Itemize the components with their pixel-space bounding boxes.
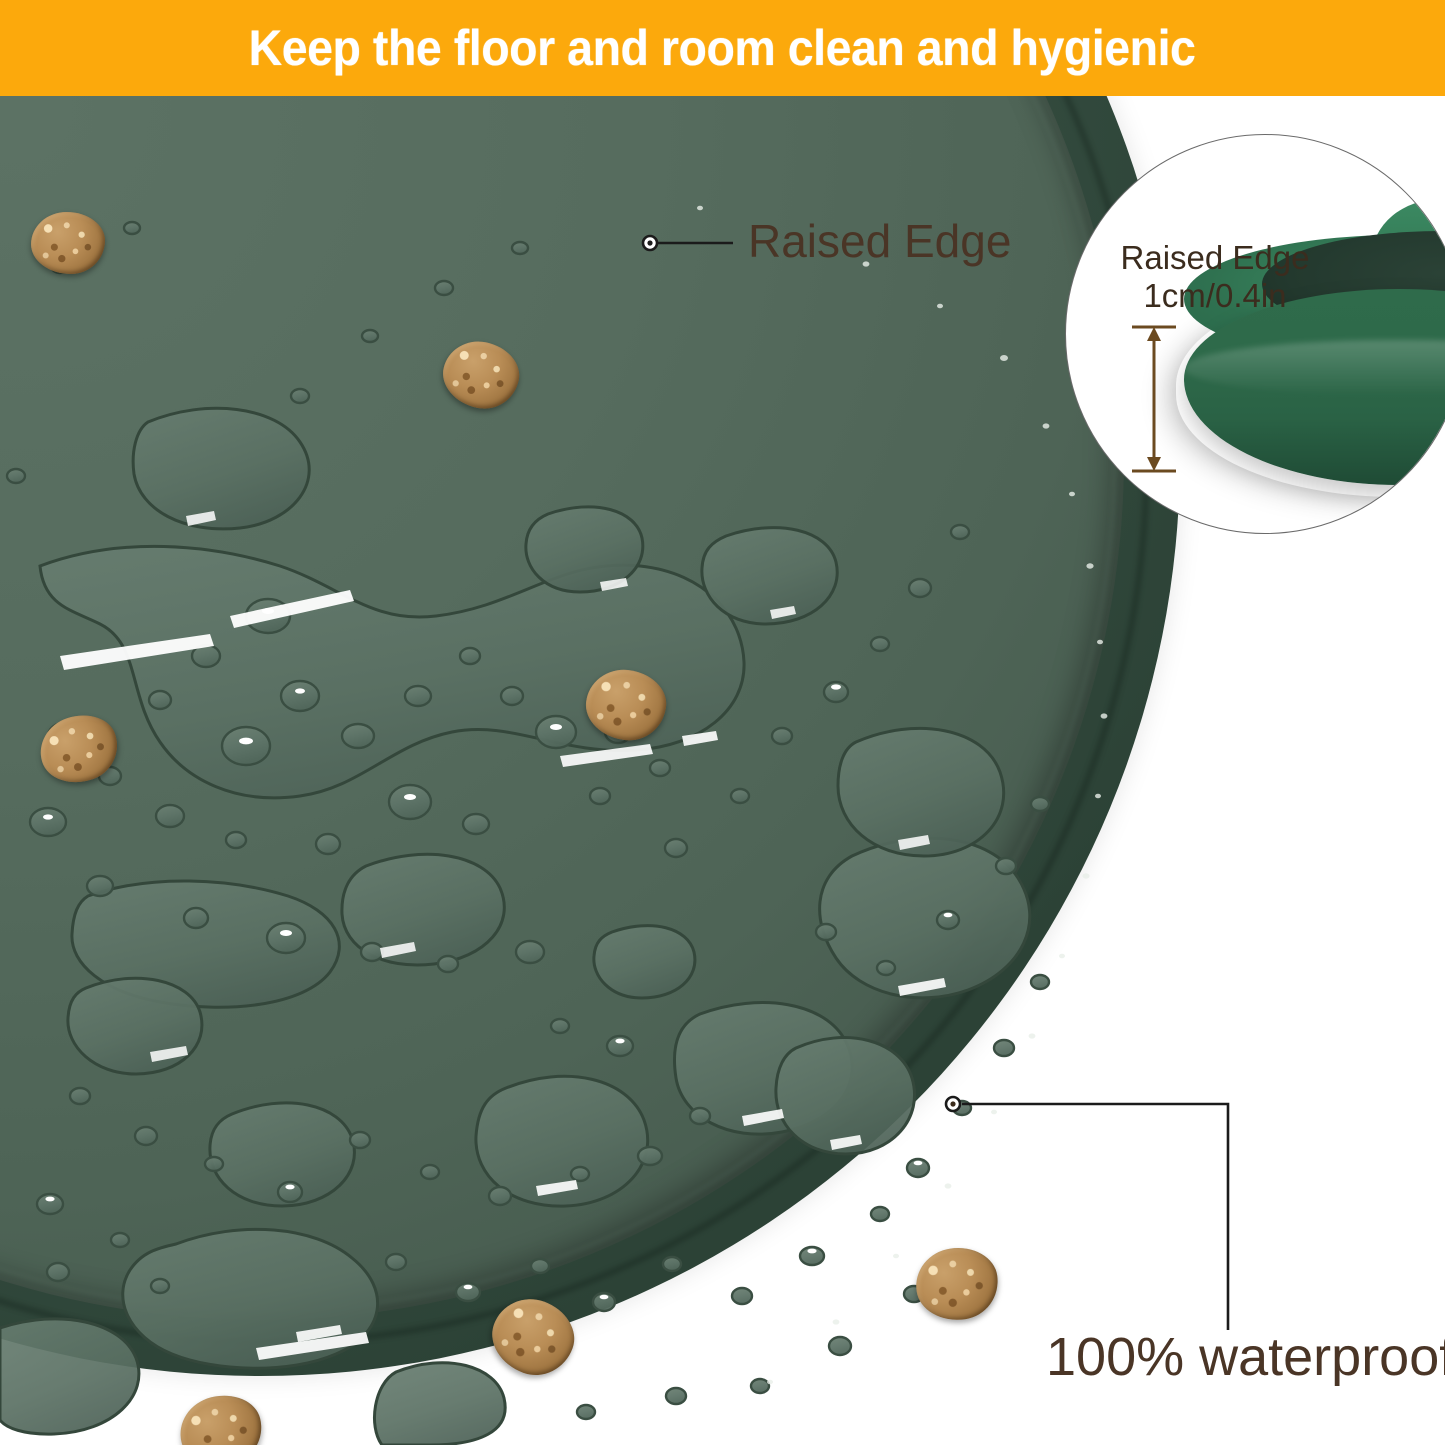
inset-label-line-2: 1cm/0.4in <box>1080 277 1350 315</box>
pet-bowl <box>0 96 1180 1376</box>
product-marketing-image: Raised Edge 100% waterproof Raised Edge … <box>0 0 1445 1445</box>
inset-dimension-label: Raised Edge 1cm/0.4in <box>1080 239 1350 314</box>
banner-title: Keep the floor and room clean and hygien… <box>249 19 1196 77</box>
inset-label-line-1: Raised Edge <box>1080 239 1350 277</box>
kibble-piece <box>31 212 105 274</box>
waterproof-callout-label: 100% waterproof <box>1046 1326 1445 1388</box>
header-banner: Keep the floor and room clean and hygien… <box>0 0 1445 96</box>
raised-edge-callout-label: Raised Edge <box>748 214 1011 268</box>
raised-edge-detail-inset: Raised Edge 1cm/0.4in <box>1065 134 1445 534</box>
cross-section-photo <box>1066 135 1445 533</box>
dimension-arrow <box>1124 321 1184 477</box>
bowl-inner-groove-highlight <box>0 96 1116 1312</box>
kibble-piece <box>173 1387 269 1445</box>
